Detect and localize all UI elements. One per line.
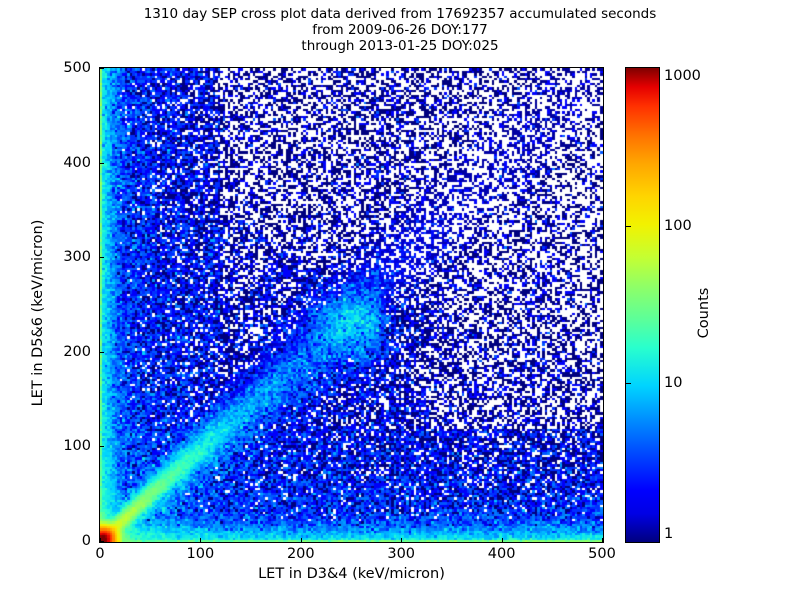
y-tick-mark bbox=[100, 257, 104, 258]
y-tick-mark bbox=[100, 352, 104, 353]
x-tick-label: 500 bbox=[588, 546, 616, 562]
colorbar-tick-label: 100 bbox=[664, 218, 692, 234]
x-tick-label: 0 bbox=[95, 546, 104, 562]
colorbar-tick-label: 1000 bbox=[664, 68, 701, 84]
y-tick-label: 300 bbox=[43, 249, 91, 265]
x-tick-mark bbox=[200, 538, 201, 542]
y-tick-label: 400 bbox=[43, 155, 91, 171]
y-axis-label: LET in D5&6 (keV/micron) bbox=[30, 213, 46, 413]
title-line-2: from 2009-06-26 DOY:177 bbox=[0, 22, 800, 38]
y-tick-mark bbox=[100, 446, 104, 447]
x-tick-label: 100 bbox=[187, 546, 215, 562]
x-tick-label: 300 bbox=[387, 546, 415, 562]
x-tick-label: 400 bbox=[488, 546, 516, 562]
figure-title: 1310 day SEP cross plot data derived fro… bbox=[0, 6, 800, 54]
y-tick-label: 200 bbox=[43, 344, 91, 360]
density-heatmap bbox=[100, 68, 603, 542]
colorbar[interactable] bbox=[625, 67, 660, 543]
x-tick-mark bbox=[401, 538, 402, 542]
figure-canvas: 1310 day SEP cross plot data derived fro… bbox=[0, 0, 800, 600]
x-tick-mark bbox=[502, 538, 503, 542]
y-tick-mark bbox=[100, 541, 104, 542]
y-tick-label: 0 bbox=[43, 533, 91, 549]
x-tick-mark bbox=[602, 538, 603, 542]
title-line-1: 1310 day SEP cross plot data derived fro… bbox=[0, 6, 800, 22]
y-tick-label: 100 bbox=[43, 438, 91, 454]
y-tick-mark bbox=[100, 163, 104, 164]
plot-area[interactable] bbox=[99, 67, 604, 543]
x-axis-label: LET in D3&4 (keV/micron) bbox=[99, 566, 604, 582]
x-tick-label: 200 bbox=[287, 546, 315, 562]
colorbar-tick-label: 1 bbox=[664, 526, 673, 542]
title-line-3: through 2013-01-25 DOY:025 bbox=[0, 38, 800, 54]
y-tick-label: 500 bbox=[43, 60, 91, 76]
colorbar-label: Counts bbox=[696, 243, 712, 383]
colorbar-tick-mark bbox=[626, 226, 631, 227]
colorbar-tick-label: 10 bbox=[664, 375, 682, 391]
x-tick-mark bbox=[301, 538, 302, 542]
colorbar-tick-mark bbox=[626, 383, 631, 384]
y-tick-mark bbox=[100, 68, 104, 69]
